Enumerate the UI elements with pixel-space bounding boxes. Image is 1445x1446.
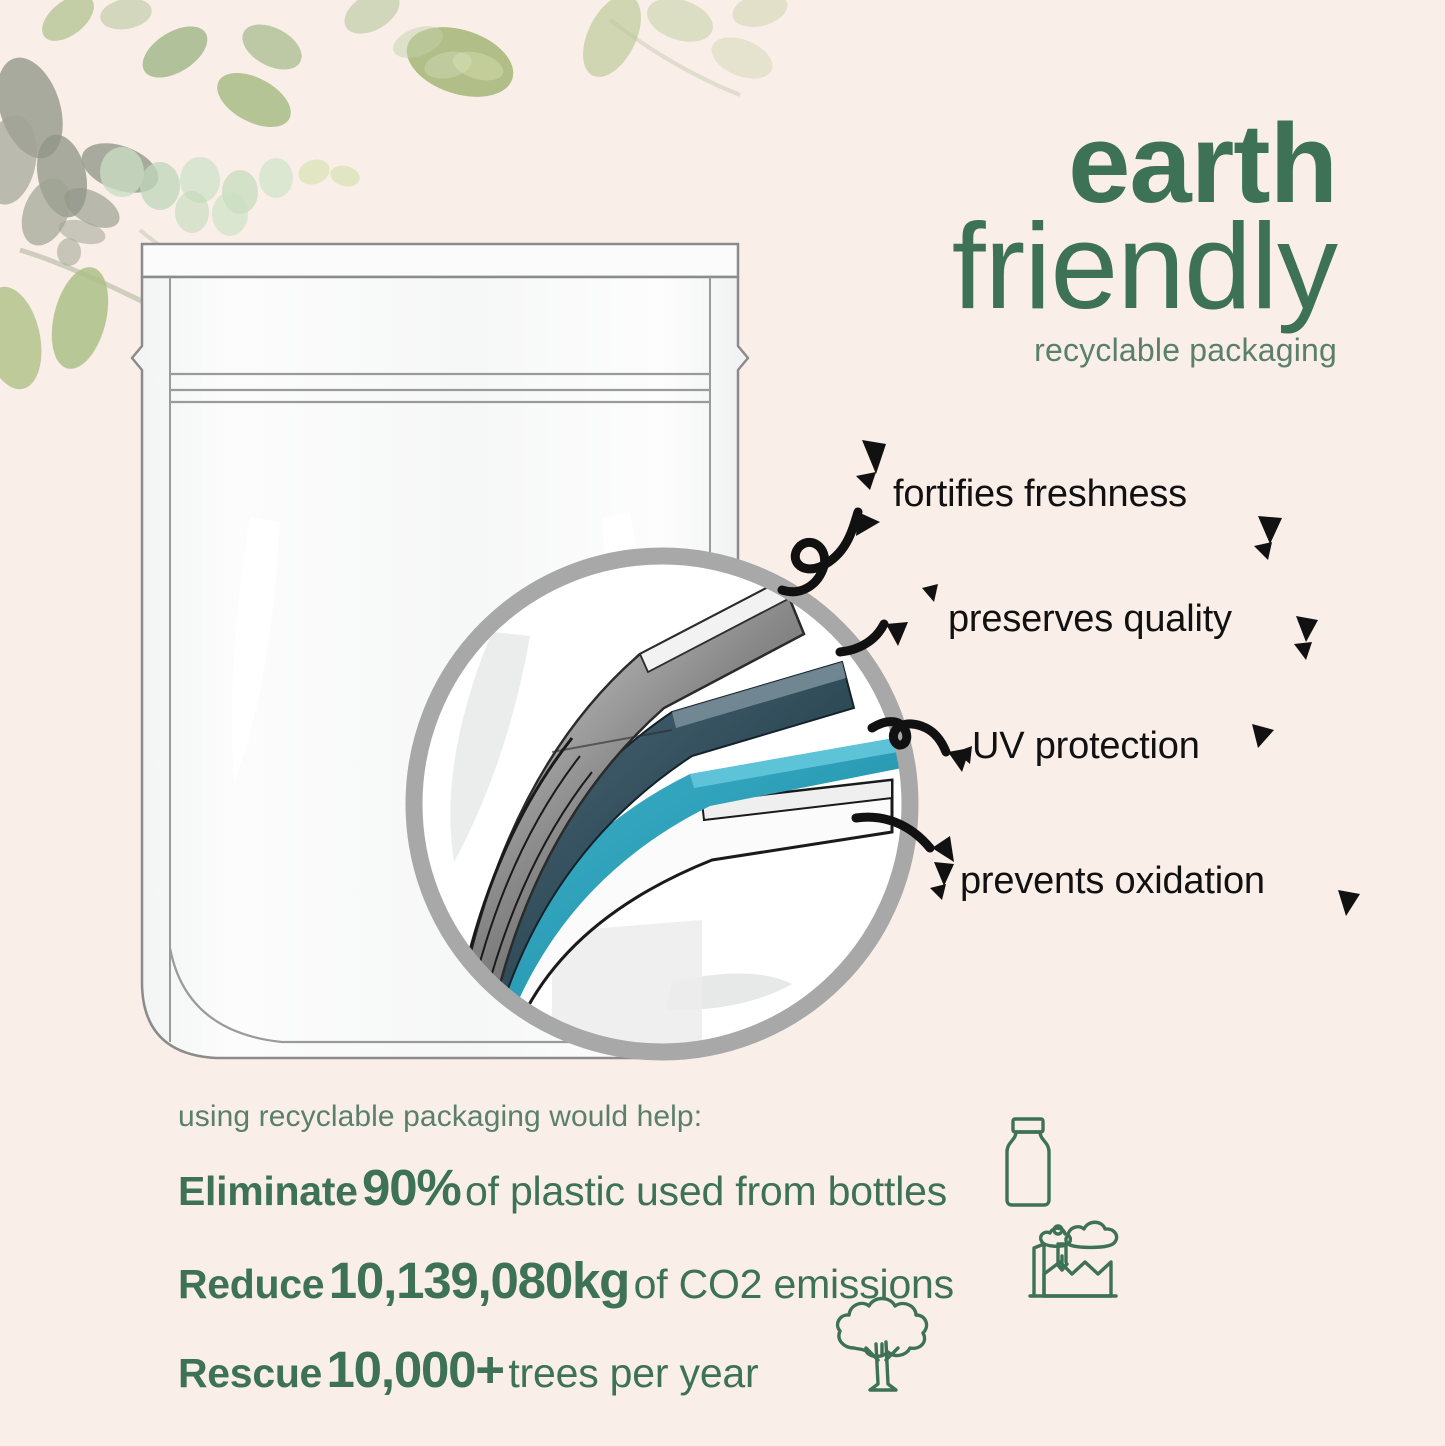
stat-lead: Reduce: [178, 1261, 324, 1307]
earth-friendly-infographic: earth friendly recyclable packaging fort…: [0, 0, 1445, 1446]
bottle-icon: [996, 1114, 1060, 1210]
stat-value: 90%: [362, 1159, 460, 1216]
headline-subtitle: recyclable packaging: [952, 336, 1337, 366]
headline-block: earth friendly recyclable packaging: [952, 112, 1337, 365]
stat-value: 10,000+: [327, 1341, 504, 1398]
magnifier-circle: [372, 512, 952, 1092]
tree-icon: [826, 1288, 938, 1400]
headline-line-2: friendly: [952, 210, 1337, 323]
factory-icon: [1022, 1206, 1126, 1302]
stat-row: Rescue 10,000+ trees per year: [178, 1340, 1278, 1399]
stat-lead: Eliminate: [178, 1168, 358, 1214]
stat-value: 10,139,080kg: [329, 1252, 629, 1309]
feature-label-preserves-quality: preserves quality: [948, 598, 1232, 641]
stat-tail: of plastic used from bottles: [465, 1168, 947, 1214]
stat-lead: Rescue: [178, 1350, 322, 1396]
feature-label-prevents-oxidation: prevents oxidation: [960, 860, 1265, 903]
stats-intro-text: using recyclable packaging would help:: [178, 1100, 1278, 1134]
feature-label-uv-protection: UV protection: [972, 725, 1200, 768]
feature-label-fortifies-freshness: fortifies freshness: [893, 473, 1187, 516]
stat-tail: trees per year: [508, 1350, 758, 1396]
